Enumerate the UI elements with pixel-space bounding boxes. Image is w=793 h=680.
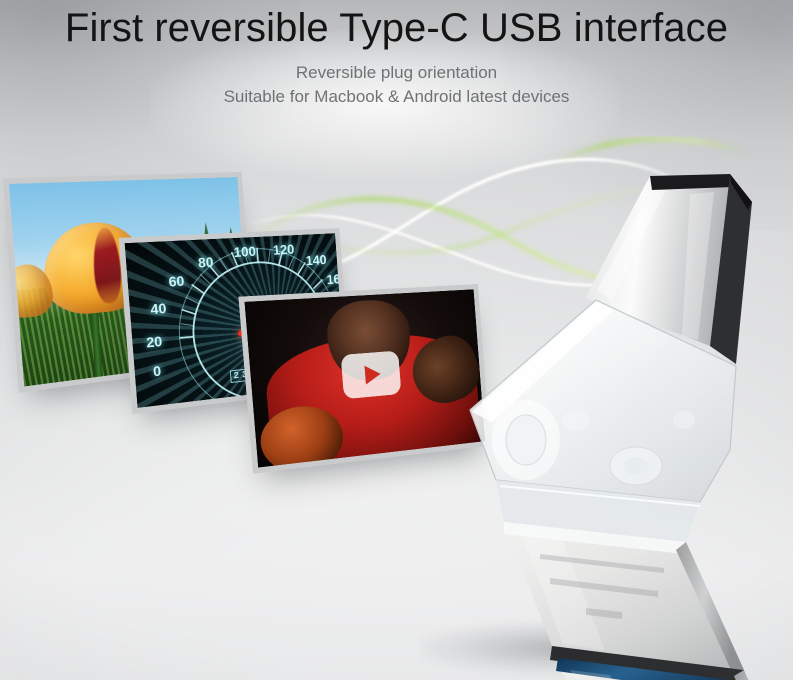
background-vignette (0, 0, 793, 680)
product-banner: First reversible Type-C USB interface Re… (0, 0, 793, 680)
